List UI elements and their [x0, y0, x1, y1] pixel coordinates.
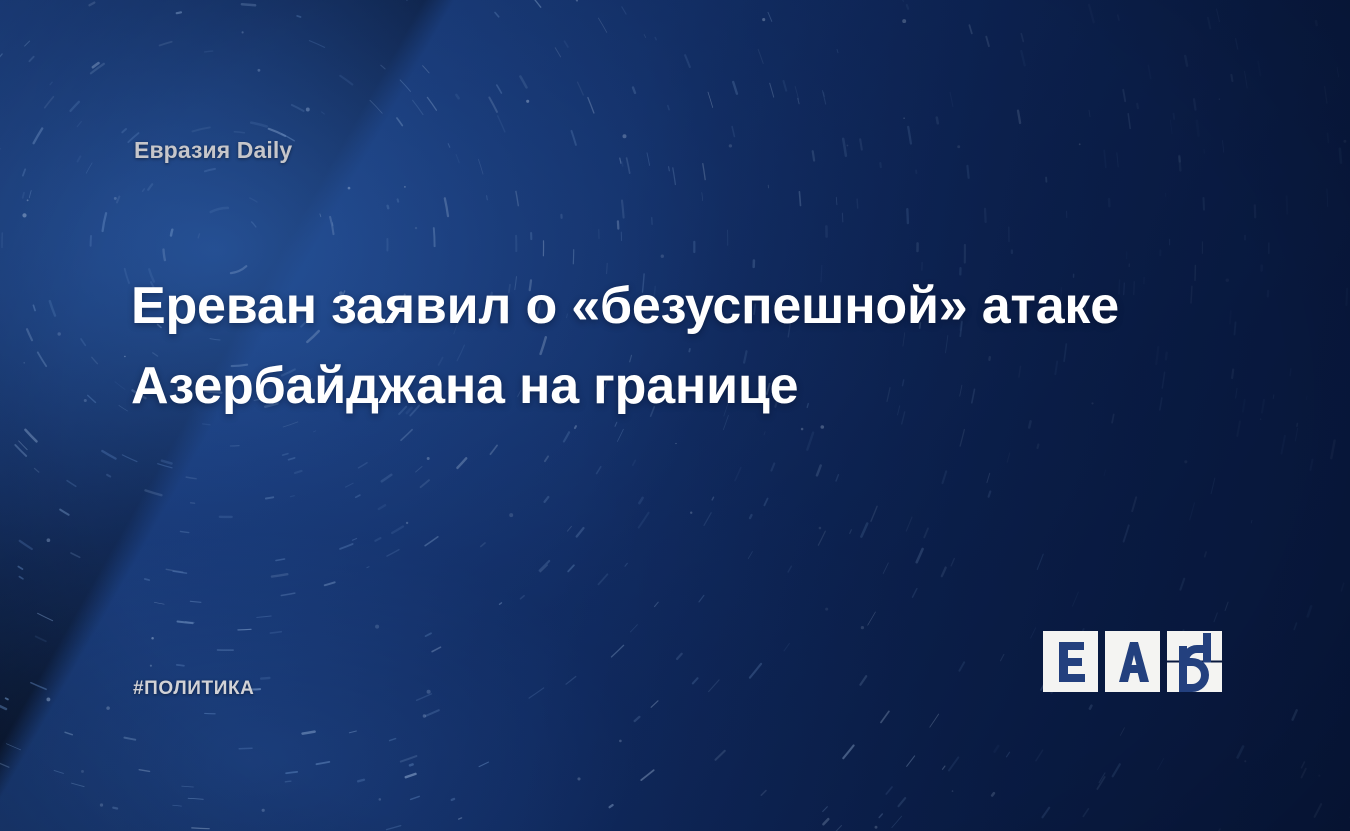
eadaily-logo: [1043, 631, 1222, 692]
logo-letter-e: [1059, 642, 1085, 682]
logo-tile-a: [1105, 631, 1160, 692]
headline-line-2: Азербайджана на границе: [131, 346, 1191, 426]
article-headline: Ереван заявил о «безуспешной» атаке Азер…: [131, 266, 1191, 426]
brand-wordmark: Евразия Daily: [134, 137, 292, 164]
news-share-card: Евразия Daily Ереван заявил о «безуспешн…: [0, 0, 1350, 831]
headline-line-1: Ереван заявил о «безуспешной» атаке: [131, 266, 1191, 346]
card-content: Евразия Daily Ереван заявил о «безуспешн…: [0, 0, 1350, 831]
category-hashtag: #ПОЛИТИКА: [133, 678, 255, 700]
